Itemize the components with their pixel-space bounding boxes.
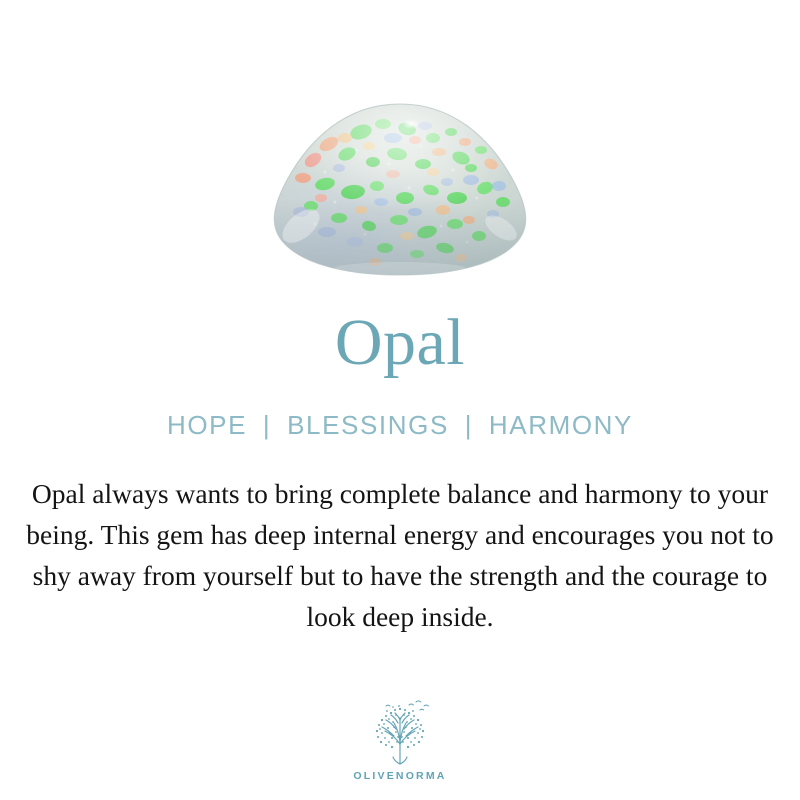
keyword-tagline: HOPE | BLESSINGS | HARMONY [167,410,633,441]
opal-gemstone-image [265,102,535,277]
brand-logo: OLIVENORMA [0,698,800,782]
opal-cabochon-illustration [265,102,535,277]
hero-image-stage [0,0,800,310]
gemstone-description: Opal always wants to bring complete bala… [15,473,785,637]
page-title: Opal [335,310,465,376]
tree-of-life-icon [363,698,437,768]
keyword-harmony: HARMONY [489,410,633,440]
keyword-separator-1: | [256,410,278,440]
keyword-separator-2: | [458,410,480,440]
keyword-blessings: BLESSINGS [287,410,449,440]
brand-wordmark: OLIVENORMA [353,770,446,782]
gemstone-info-card: Opal HOPE | BLESSINGS | HARMONY Opal alw… [0,0,800,800]
keyword-hope: HOPE [167,410,247,440]
